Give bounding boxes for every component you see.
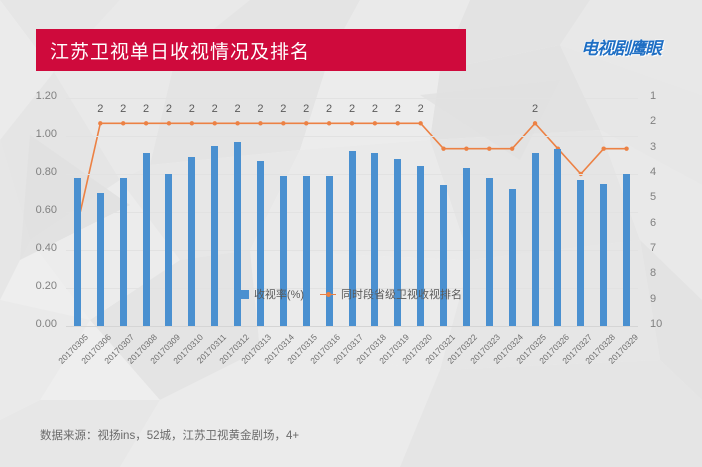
rank-line-point	[624, 146, 628, 150]
rank-line-point	[281, 121, 285, 125]
bar	[97, 193, 104, 326]
legend-line-dot-icon	[320, 290, 336, 299]
rank-line-point	[304, 121, 308, 125]
legend-item-rating[interactable]: 收视率(%)	[240, 286, 304, 302]
rank-line-point	[121, 121, 125, 125]
y-axis-right-tick: 2	[638, 115, 656, 127]
legend-item-rank[interactable]: 同时段省级卫视收视排名	[320, 286, 462, 302]
gridline	[66, 136, 638, 137]
rank-point-label: 2	[212, 103, 218, 115]
rank-line-point	[235, 121, 239, 125]
bar	[120, 178, 127, 326]
rank-point-label: 2	[532, 103, 538, 115]
rank-point-label: 2	[166, 103, 172, 115]
y-axis-left-tick: 0.40	[36, 242, 66, 254]
bar	[440, 185, 447, 326]
chart-page: 江苏卫视单日收视情况及排名 电视剧鹰眼 0.000.200.400.600.80…	[0, 0, 702, 467]
footer: 数据来源：视扬ins，52城，江苏卫视黄金剧场，4+	[40, 427, 299, 443]
bar	[600, 184, 607, 327]
y-axis-left-tick: 0.80	[36, 166, 66, 178]
y-axis-left-tick: 0.60	[36, 204, 66, 216]
y-axis-right-tick: 10	[638, 318, 662, 330]
rank-point-label: 2	[349, 103, 355, 115]
y-axis-right-tick: 4	[638, 166, 656, 178]
bar	[280, 176, 287, 326]
rank-line-point	[510, 146, 514, 150]
rank-line-point	[350, 121, 354, 125]
rank-line-point	[533, 121, 537, 125]
y-axis-right-tick: 3	[638, 141, 656, 153]
title-bar: 江苏卫视单日收视情况及排名	[36, 29, 466, 71]
bar	[303, 176, 310, 326]
brand-logo: 电视剧鹰眼	[562, 24, 680, 68]
y-axis-right-tick: 1	[638, 90, 656, 102]
bar	[463, 168, 470, 326]
rank-line-point	[373, 121, 377, 125]
rank-point-label: 2	[189, 103, 195, 115]
legend-label-rating: 收视率(%)	[254, 286, 304, 302]
rank-line-point	[418, 121, 422, 125]
rank-line-point	[190, 121, 194, 125]
rank-point-label: 2	[395, 103, 401, 115]
legend-square-icon	[240, 290, 249, 299]
y-axis-left-tick: 1.20	[36, 90, 66, 102]
bar	[577, 180, 584, 326]
rank-line-point	[487, 146, 491, 150]
rank-line-point	[327, 121, 331, 125]
chart-legend: 收视率(%) 同时段省级卫视收视排名	[0, 286, 702, 302]
rank-line-point	[144, 121, 148, 125]
rank-point-label: 2	[418, 103, 424, 115]
legend-label-rank: 同时段省级卫视收视排名	[341, 286, 462, 302]
y-axis-left-tick: 1.00	[36, 128, 66, 140]
bar	[417, 166, 424, 326]
rank-line-point	[601, 146, 605, 150]
rank-line-point	[98, 121, 102, 125]
rank-point-label: 2	[235, 103, 241, 115]
bar	[326, 176, 333, 326]
y-axis-right-tick: 5	[638, 191, 656, 203]
bar	[165, 174, 172, 326]
rank-line-point	[464, 146, 468, 150]
rank-point-label: 2	[303, 103, 309, 115]
rank-point-label: 2	[143, 103, 149, 115]
rank-point-label: 2	[97, 103, 103, 115]
rank-point-label: 2	[326, 103, 332, 115]
bar	[486, 178, 493, 326]
rank-line-point	[167, 121, 171, 125]
rank-point-label: 2	[120, 103, 126, 115]
bar	[74, 178, 81, 326]
rank-line-point	[396, 121, 400, 125]
rank-point-label: 2	[372, 103, 378, 115]
gridline	[66, 326, 638, 327]
bar	[623, 174, 630, 326]
rank-line-point	[258, 121, 262, 125]
chart-container: 0.000.200.400.600.801.001.20123456789102…	[0, 85, 702, 405]
rank-point-label: 2	[257, 103, 263, 115]
y-axis-right-tick: 8	[638, 267, 656, 279]
gridline	[66, 98, 638, 99]
rank-line-point	[441, 146, 445, 150]
rank-point-label: 2	[280, 103, 286, 115]
bar	[509, 189, 516, 326]
y-axis-right-tick: 7	[638, 242, 656, 254]
rank-line-point	[213, 121, 217, 125]
y-axis-right-tick: 6	[638, 217, 656, 229]
y-axis-left-tick: 0.00	[36, 318, 66, 330]
data-source-note: 数据来源：视扬ins，52城，江苏卫视黄金剧场，4+	[40, 427, 299, 443]
page-title: 江苏卫视单日收视情况及排名	[36, 37, 310, 64]
brand-logo-text: 电视剧鹰眼	[581, 34, 661, 59]
